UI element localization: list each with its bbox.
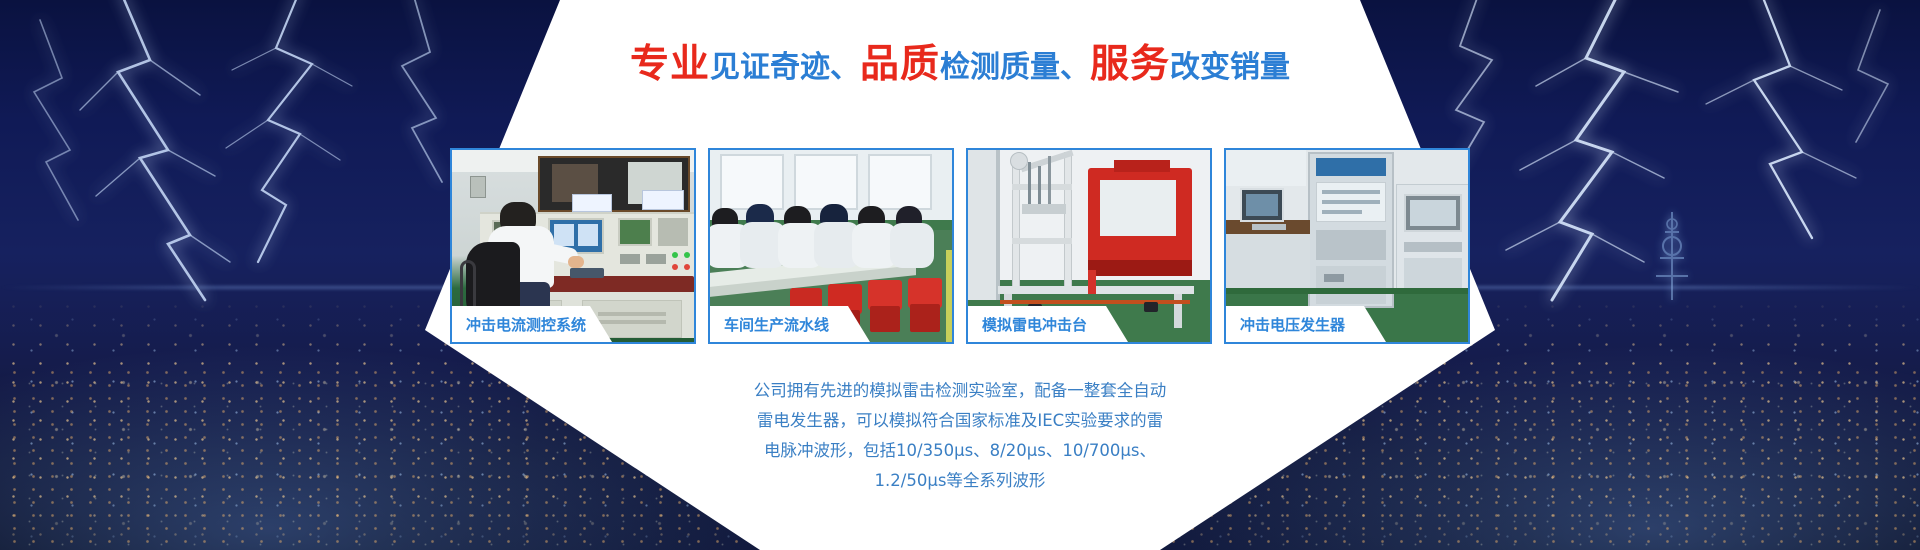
headline-segment-6: 改变销量 <box>1170 50 1290 85</box>
headline: 专业见证奇迹、品质检测质量、服务改变销量 <box>0 45 1920 84</box>
headline-segment-5: 服务 <box>1090 42 1170 87</box>
caption-label: 冲击电流测控系统 <box>466 314 586 335</box>
photo-card-caption: 车间生产流水线 <box>710 306 870 342</box>
caption-label: 冲击电压发生器 <box>1240 314 1345 335</box>
paragraph-line-2: 雷电发生器，可以模拟符合国家标准及IEC实验要求的雷 <box>0 406 1920 436</box>
paragraph-line-4: 1.2/50μs等全系列波形 <box>0 466 1920 496</box>
photo-card-caption: 冲击电压发生器 <box>1226 306 1386 342</box>
paragraph-line-1: 公司拥有先进的模拟雷击检测实验室，配备一整套全自动 <box>0 376 1920 406</box>
headline-segment-1: 专业 <box>630 42 710 87</box>
caption-label: 模拟雷电冲击台 <box>982 314 1087 335</box>
paragraph-line-3: 电脉冲波形，包括10/350μs、8/20μs、10/700μs、 <box>0 436 1920 466</box>
promo-banner: 专业见证奇迹、品质检测质量、服务改变销量 <box>0 0 1920 550</box>
photo-card-workshop-production-line[interactable]: 车间生产流水线 <box>708 148 954 344</box>
photo-card-simulated-lightning-impulse-bench[interactable]: 模拟雷电冲击台 <box>966 148 1212 344</box>
photo-card-caption: 模拟雷电冲击台 <box>968 306 1128 342</box>
photo-card-caption: 冲击电流测控系统 <box>452 306 612 342</box>
photo-card-impulse-voltage-generator[interactable]: 冲击电压发生器 <box>1224 148 1470 344</box>
headline-segment-4: 检测质量、 <box>940 50 1090 85</box>
photo-card-impulse-current-control-system[interactable]: 冲击电流测控系统 <box>450 148 696 344</box>
headline-segment-2: 见证奇迹、 <box>710 50 860 85</box>
description-paragraph: 公司拥有先进的模拟雷击检测实验室，配备一整套全自动 雷电发生器，可以模拟符合国家… <box>0 376 1920 496</box>
banner-content: 专业见证奇迹、品质检测质量、服务改变销量 <box>0 0 1920 550</box>
photo-card-list: 冲击电流测控系统 <box>0 148 1920 344</box>
caption-label: 车间生产流水线 <box>724 314 829 335</box>
headline-segment-3: 品质 <box>860 42 940 87</box>
